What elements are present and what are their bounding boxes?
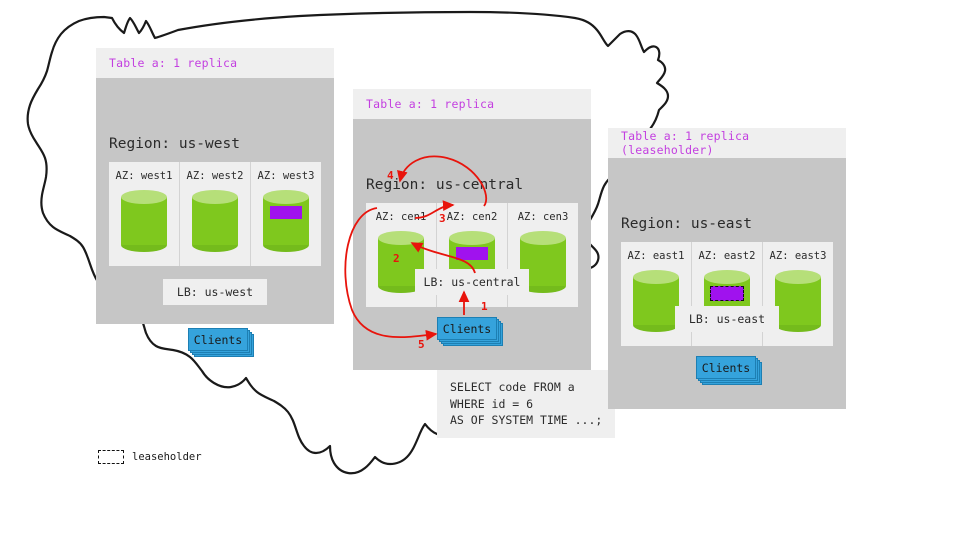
az-label: AZ: west1 xyxy=(109,170,179,182)
load-balancer-us-west[interactable]: LB: us-west xyxy=(163,279,267,305)
az-west3[interactable]: AZ: west3 xyxy=(251,162,321,266)
clients-label: Clients xyxy=(437,317,497,340)
node-cylinder xyxy=(263,190,309,252)
az-label: AZ: east1 xyxy=(621,250,691,262)
az-label: AZ: west2 xyxy=(180,170,250,182)
region-name-us-east: Region: us-east xyxy=(621,216,752,232)
table-replica-label: Table a: 1 replica xyxy=(96,56,237,70)
replica-block xyxy=(270,206,302,219)
region-table-label-us-east: Table a: 1 replica (leaseholder) xyxy=(608,128,846,158)
clients-us-west[interactable]: Clients xyxy=(188,328,254,356)
node-cylinder xyxy=(775,270,821,332)
diagram-canvas: Table a: 1 replica Region: us-west AZ: w… xyxy=(0,0,960,540)
legend-leaseholder: leaseholder xyxy=(98,450,202,464)
az-label: AZ: west3 xyxy=(251,170,321,182)
legend-label: leaseholder xyxy=(132,451,202,463)
node-cylinder xyxy=(633,270,679,332)
region-panel-us-east: Table a: 1 replica (leaseholder) Region:… xyxy=(608,128,846,409)
az-label: AZ: east3 xyxy=(763,250,833,262)
table-replica-label: Table a: 1 replica xyxy=(353,97,494,111)
load-balancer-us-central[interactable]: LB: us-central xyxy=(415,269,529,295)
replica-block xyxy=(456,247,488,260)
az-row-us-west: AZ: west1 AZ: west2 AZ: west3 xyxy=(109,162,321,266)
node-cylinder xyxy=(121,190,167,252)
region-table-label-us-central: Table a: 1 replica xyxy=(353,89,591,119)
clients-label: Clients xyxy=(696,356,756,379)
clients-label: Clients xyxy=(188,328,248,351)
az-west2[interactable]: AZ: west2 xyxy=(180,162,251,266)
replica-block-leaseholder xyxy=(710,286,744,301)
table-replica-label: Table a: 1 replica (leaseholder) xyxy=(608,129,846,157)
region-table-label-us-west: Table a: 1 replica xyxy=(96,48,334,78)
clients-us-east[interactable]: Clients xyxy=(696,356,762,384)
az-label: AZ: cen3 xyxy=(508,211,578,223)
az-label: AZ: east2 xyxy=(692,250,762,262)
region-name-us-west: Region: us-west xyxy=(109,136,240,152)
region-panel-us-west: Table a: 1 replica Region: us-west AZ: w… xyxy=(96,48,334,324)
clients-us-central[interactable]: Clients xyxy=(437,317,503,345)
dashed-rectangle-icon xyxy=(98,450,124,464)
sql-query-box: SELECT code FROM a WHERE id = 6 AS OF SY… xyxy=(437,370,615,438)
az-west1[interactable]: AZ: west1 xyxy=(109,162,180,266)
load-balancer-us-east[interactable]: LB: us-east xyxy=(675,306,779,332)
az-label: AZ: cen1 xyxy=(366,211,436,223)
az-label: AZ: cen2 xyxy=(437,211,507,223)
node-cylinder xyxy=(192,190,238,252)
region-panel-us-central: Table a: 1 replica Region: us-central AZ… xyxy=(353,89,591,370)
region-name-us-central: Region: us-central xyxy=(366,177,523,193)
